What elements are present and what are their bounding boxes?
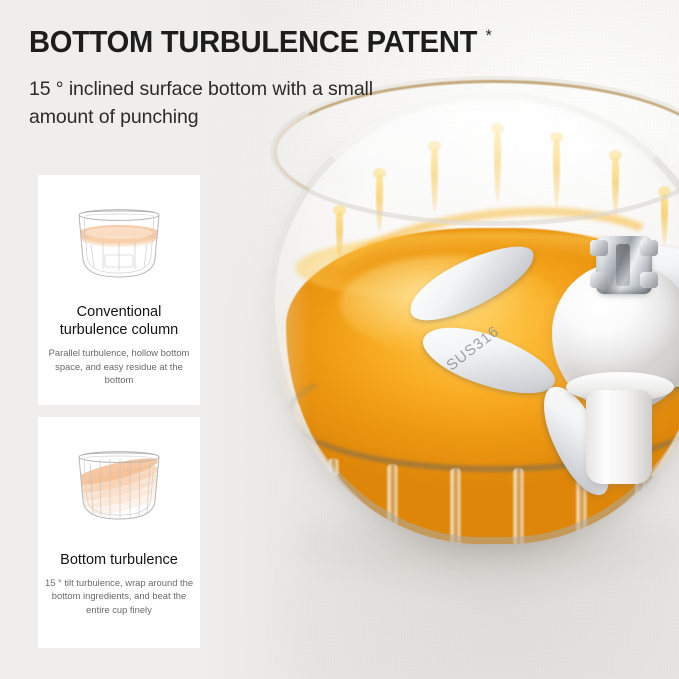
blade-assembly: SUS316 xyxy=(508,204,679,484)
product-feature-graphic: SUS316 BOTTOM TURBULENCE PATENT* 15 ° in… xyxy=(0,0,679,679)
coupler-lug xyxy=(590,272,608,288)
card-title-bottom-turbulence: Bottom turbulence xyxy=(54,551,184,569)
page-subtitle: 15 ° inclined surface bottom with a smal… xyxy=(29,76,389,131)
jar-rib xyxy=(386,464,399,542)
jar-rib xyxy=(327,458,340,536)
card-description-bottom-turbulence: 15 ° tilt turbulence, wrap around the bo… xyxy=(38,576,200,616)
puree-drip xyxy=(336,210,343,260)
drive-coupler xyxy=(596,236,652,294)
tilted-turbulence-band xyxy=(71,453,168,521)
coupler-lug xyxy=(640,240,658,256)
page-title-text: BOTTOM TURBULENCE PATENT xyxy=(29,24,477,59)
coupler-slot xyxy=(616,244,630,286)
coupler-lug xyxy=(590,240,608,256)
bottom-turbulence-cup-illustration xyxy=(63,439,175,531)
card-title-line-1: Conventional xyxy=(77,304,162,320)
card-title-conventional: Conventional turbulence column xyxy=(54,303,185,339)
comparison-card-bottom-turbulence: Bottom turbulence 15 ° tilt turbulence, … xyxy=(38,417,200,648)
patent-asterisk: * xyxy=(486,26,492,45)
page-title: BOTTOM TURBULENCE PATENT* xyxy=(29,24,612,60)
glass-blender-jar: SUS316 xyxy=(268,92,679,564)
coupler-lug xyxy=(640,272,658,288)
hollow-bottom-detail xyxy=(91,242,147,271)
card-description-conventional: Parallel turbulence, hollow bottom space… xyxy=(38,346,200,386)
jar-rib xyxy=(449,468,462,544)
comparison-card-conventional: Conventional turbulence column Parallel … xyxy=(38,175,200,405)
conventional-turbulence-cup-illustration xyxy=(63,197,175,289)
card-title-line-2: turbulence column xyxy=(60,322,179,338)
blade-hub-stem xyxy=(586,390,652,484)
